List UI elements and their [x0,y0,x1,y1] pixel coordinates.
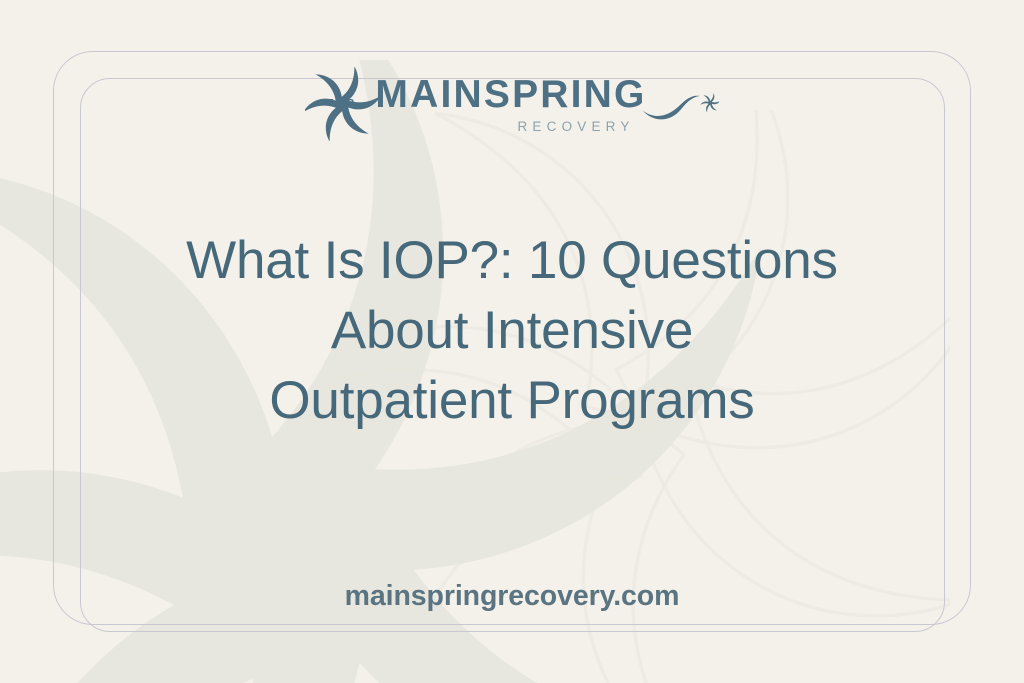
social-card: MSP MAINSPRING RECOVERY What Is IO [0,0,1024,683]
headline-line-3: Outpatient Programs [92,366,932,436]
logo-wordmark: MAINSPRING [375,75,646,114]
headline-line-2: About Intensive [92,296,932,366]
headline: What Is IOP?: 10 Questions About Intensi… [92,226,932,436]
brand-logo: MSP MAINSPRING RECOVERY [0,64,1024,144]
wave-swirl-flourish-icon [641,83,719,135]
mainspring-swirl-icon: MSP [305,67,379,141]
website-url: mainspringrecovery.com [0,580,1024,613]
logo-mark-center-text: MSP [330,98,355,110]
headline-line-1: What Is IOP?: 10 Questions [92,226,932,296]
logo-subtext: RECOVERY [517,120,634,134]
